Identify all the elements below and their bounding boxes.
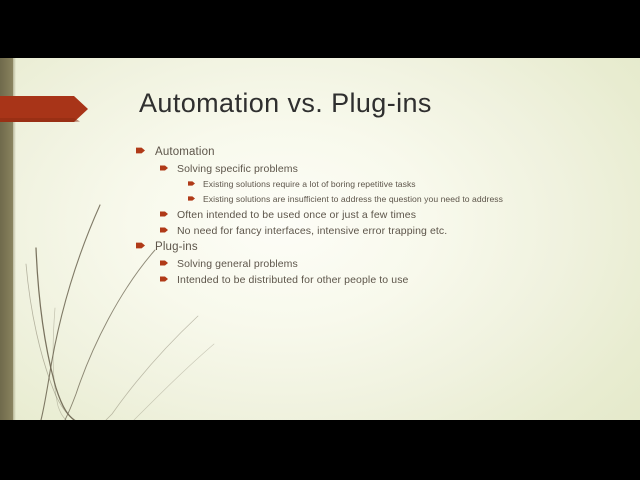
bullet-arrow-icon (160, 276, 168, 282)
letterbox-bar-bottom (0, 420, 640, 480)
bullet-item-level2: Solving general problems (160, 258, 606, 274)
video-player-viewport: Automation vs. Plug-ins Automation Solvi… (0, 0, 640, 480)
presentation-slide: Automation vs. Plug-ins Automation Solvi… (0, 58, 640, 420)
bullet-text: Automation (155, 146, 215, 158)
bullet-arrow-icon (136, 147, 145, 154)
bullet-arrow-icon (160, 227, 168, 233)
bullet-item-level2: Solving specific problems (160, 163, 606, 179)
bullet-text: Plug-ins (155, 241, 198, 253)
bullet-text: Existing solutions require a lot of bori… (203, 179, 416, 189)
bullet-item-level2: Intended to be distributed for other peo… (160, 274, 606, 290)
bullet-arrow-icon (188, 181, 195, 186)
letterbox-bar-top (0, 0, 640, 58)
bullet-text: Solving general problems (177, 258, 298, 270)
bullet-arrow-icon (136, 242, 145, 249)
bullet-text: Intended to be distributed for other peo… (177, 274, 409, 286)
bullet-item-level2: No need for fancy interfaces, intensive … (160, 225, 606, 241)
bullet-text: Existing solutions are insufficient to a… (203, 194, 503, 204)
slide-bullet-list: Automation Solving specific problems Exi… (136, 146, 606, 290)
bullet-item-level3: Existing solutions require a lot of bori… (188, 179, 606, 194)
bullet-item-level1: Plug-ins (136, 241, 606, 258)
bullet-arrow-icon (160, 211, 168, 217)
bullet-text: No need for fancy interfaces, intensive … (177, 225, 447, 237)
bullet-arrow-icon (160, 165, 168, 171)
slide-title: Automation vs. Plug-ins (139, 88, 432, 119)
bullet-arrow-icon (160, 260, 168, 266)
red-arrow-banner-icon (0, 96, 88, 122)
bullet-text: Often intended to be used once or just a… (177, 209, 416, 221)
bullet-item-level1: Automation (136, 146, 606, 163)
bullet-item-level3: Existing solutions are insufficient to a… (188, 194, 606, 209)
bullet-item-level2: Often intended to be used once or just a… (160, 209, 606, 225)
bullet-arrow-icon (188, 196, 195, 201)
bullet-text: Solving specific problems (177, 163, 298, 175)
